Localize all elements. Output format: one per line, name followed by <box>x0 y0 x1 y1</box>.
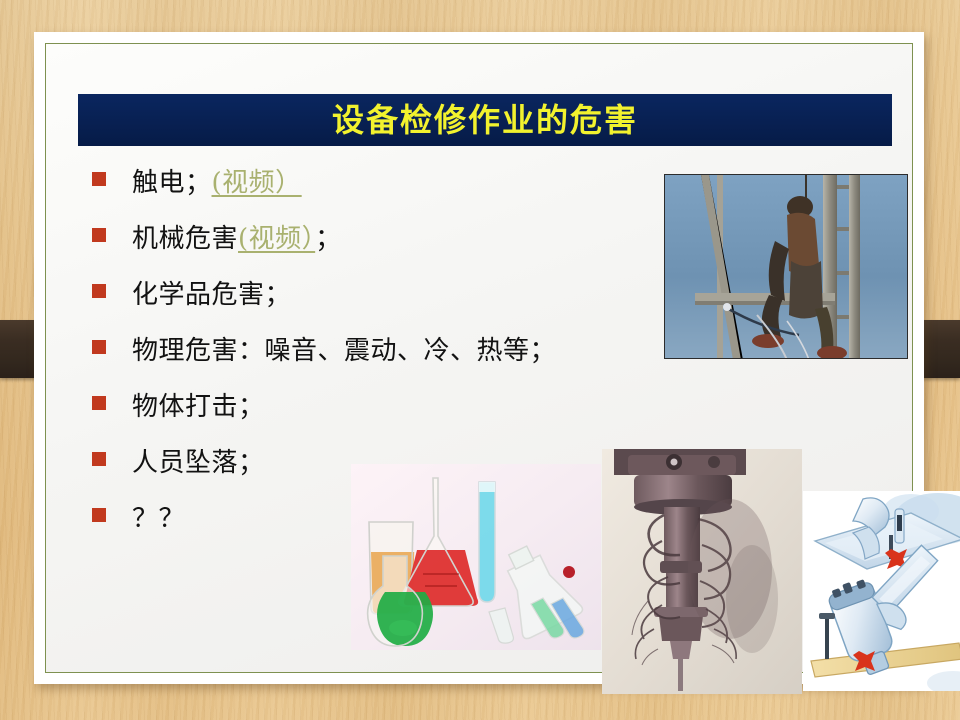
bullet-text: 机械危害(视频）； <box>132 218 342 255</box>
bullet-square-icon <box>92 508 106 522</box>
list-item: 物理危害：噪音、震动、冷、热等； <box>92 330 692 386</box>
bullet-label: 机械危害 <box>132 224 238 254</box>
video-link[interactable]: (视频） <box>238 224 315 254</box>
list-item: 物体打击； <box>92 386 692 442</box>
bullet-square-icon <box>92 452 106 466</box>
bullet-text: 化学品危害； <box>132 274 291 311</box>
video-link[interactable]: (视频） <box>212 168 302 198</box>
worker-on-tower-photo <box>664 174 908 359</box>
bullet-square-icon <box>92 284 106 298</box>
page-title: 设备检修作业的危害 <box>332 104 638 136</box>
list-item: 触电；(视频） <box>92 162 692 218</box>
tower-photo-graphic <box>665 175 908 359</box>
drill-spindle-graphic <box>602 449 802 694</box>
bullet-text: 物体打击； <box>132 386 265 423</box>
slide-title-bar: 设备检修作业的危害 <box>78 94 892 146</box>
bullet-square-icon <box>92 340 106 354</box>
glassware-graphic <box>351 464 601 650</box>
slide-background: 设备检修作业的危害 触电；(视频） 机械危害(视频）； 化学品危害； <box>0 0 960 720</box>
list-item: 机械危害(视频）； <box>92 218 692 274</box>
lab-glassware-photo <box>351 464 601 650</box>
bullet-text: 人员坠落； <box>132 442 265 479</box>
bullet-square-icon <box>92 396 106 410</box>
pneumatic-tool-graphic <box>803 491 960 691</box>
bullet-suffix: ； <box>315 224 342 254</box>
list-item: 化学品危害； <box>92 274 692 330</box>
bullet-label: 触电； <box>132 168 212 198</box>
bullet-text: 触电；(视频） <box>132 162 302 199</box>
bullet-square-icon <box>92 172 106 186</box>
slide-card: 设备检修作业的危害 触电；(视频） 机械危害(视频）； 化学品危害； <box>34 32 924 684</box>
rotating-drill-photo <box>602 449 802 694</box>
bullet-text: ？？ <box>132 498 185 535</box>
slide-inner-frame: 设备检修作业的危害 触电；(视频） 机械危害(视频）； 化学品危害； <box>45 43 913 673</box>
nail-gun-illustration <box>803 491 960 691</box>
bullet-text: 物理危害：噪音、震动、冷、热等； <box>132 330 556 367</box>
bullet-square-icon <box>92 228 106 242</box>
